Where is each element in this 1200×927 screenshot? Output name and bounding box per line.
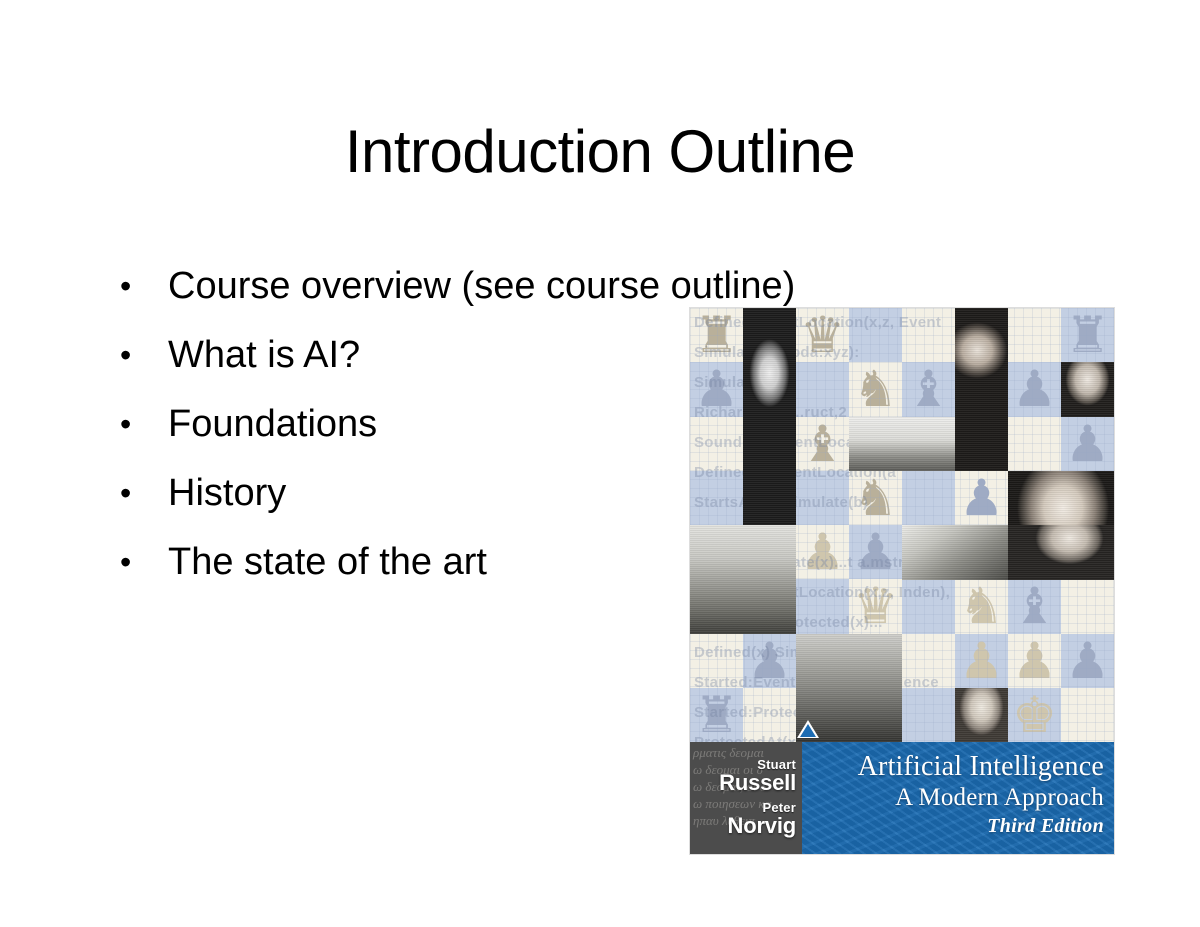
- photo-grain: [1061, 362, 1114, 417]
- knight-piece-icon: ♞: [853, 364, 898, 414]
- photo-grain: [955, 688, 1008, 742]
- board-square: ♝: [902, 362, 955, 416]
- photo-grain: [849, 417, 955, 471]
- bishop-piece-icon: ♝: [906, 364, 951, 414]
- photo-grain: [1008, 525, 1114, 580]
- board-square: [796, 362, 849, 416]
- bullet-glyph: •: [120, 459, 140, 528]
- board-square: ♝: [1008, 579, 1061, 633]
- board-square: [690, 634, 743, 688]
- pawn-piece-icon: ♟: [1065, 419, 1110, 469]
- pawn-piece-icon: ♟: [853, 527, 898, 577]
- photo-grain: [955, 308, 1008, 471]
- pawn-piece-icon: ♟: [959, 473, 1004, 523]
- knight-piece-icon: ♞: [853, 473, 898, 523]
- board-square: ♟: [1008, 634, 1061, 688]
- book-cover-image: ♜♛♜♟♞♝♟♝♟♟♞♟♟♟♛♞♝♟♟♟♟♜♚ Defined:EventLoc…: [690, 308, 1114, 854]
- list-item-label: What is AI?: [168, 334, 360, 376]
- board-square: ♜: [690, 688, 743, 742]
- slide-canvas: Introduction Outline • Course overview (…: [0, 0, 1200, 927]
- board-square: ♟: [849, 525, 902, 579]
- mars-rover: [690, 525, 796, 634]
- list-item-label: The state of the art: [168, 541, 487, 583]
- board-square: [902, 471, 955, 525]
- queen-piece-icon: ♛: [853, 581, 898, 631]
- board-square: ♞: [955, 579, 1008, 633]
- bishop-piece-icon: ♝: [1012, 581, 1057, 631]
- list-item-label: History: [168, 472, 286, 514]
- list-item-label: Course overview (see course outline): [168, 265, 795, 307]
- board-square: ♟: [955, 634, 1008, 688]
- photo-archive-desk: [902, 525, 1008, 580]
- board-square: ♝: [796, 417, 849, 471]
- pawn-piece-icon: ♟: [1012, 636, 1057, 686]
- board-square: [1061, 688, 1114, 742]
- photo-grain: [902, 525, 1008, 580]
- board-square: ♟: [955, 471, 1008, 525]
- board-square: ♞: [849, 471, 902, 525]
- bullet-glyph: •: [120, 528, 140, 597]
- pawn-piece-icon: ♟: [1065, 636, 1110, 686]
- board-square: ♟: [796, 525, 849, 579]
- board-square: ♜: [1061, 308, 1114, 362]
- board-square: ♛: [796, 308, 849, 362]
- board-square: [690, 471, 743, 525]
- board-square: [1008, 417, 1061, 471]
- rook-piece-icon: ♜: [694, 310, 739, 360]
- asimo-humanoid-robot: [743, 308, 796, 525]
- page-title: Introduction Outline: [0, 120, 1200, 183]
- queen-piece-icon: ♛: [800, 310, 845, 360]
- photo-grain: [690, 525, 796, 634]
- book-title-band: Artificial Intelligence A Modern Approac…: [802, 742, 1114, 854]
- board-square: [902, 579, 955, 633]
- board-square: [902, 634, 955, 688]
- author-last-name: Norvig: [719, 815, 796, 837]
- pawn-piece-icon: ♟: [800, 527, 845, 577]
- aristotle-bust: [955, 688, 1008, 742]
- board-square: [690, 417, 743, 471]
- board-square: [743, 688, 796, 742]
- bullet-glyph: •: [120, 321, 140, 390]
- board-square: ♟: [743, 634, 796, 688]
- harbor-lighthouse: [849, 417, 955, 471]
- knight-piece-icon: ♞: [959, 581, 1004, 631]
- author-last-name: Russell: [719, 772, 796, 794]
- board-square: [902, 308, 955, 362]
- board-square: ♟: [1061, 634, 1114, 688]
- book-title-line1: Artificial Intelligence: [858, 751, 1104, 783]
- bishop-piece-icon: ♝: [800, 419, 845, 469]
- board-square: [796, 471, 849, 525]
- man-in-suit: [1008, 525, 1114, 580]
- board-square: ♚: [1008, 688, 1061, 742]
- board-square: [1061, 579, 1114, 633]
- book-title-text: Artificial Intelligence A Modern Approac…: [858, 751, 1104, 839]
- board-square: ♟: [690, 362, 743, 416]
- board-square: ♜: [690, 308, 743, 362]
- board-square: [902, 688, 955, 742]
- rook-piece-icon: ♜: [694, 690, 739, 740]
- pawn-piece-icon: ♟: [959, 636, 1004, 686]
- king-piece-icon: ♚: [1012, 690, 1057, 740]
- pawn-piece-icon: ♟: [694, 364, 739, 414]
- list-item-label: Foundations: [168, 403, 377, 445]
- rook-piece-icon: ♜: [1065, 310, 1110, 360]
- board-square: [796, 579, 849, 633]
- book-edition-label: Third Edition: [858, 813, 1104, 839]
- board-square: ♟: [1061, 417, 1114, 471]
- photo-grain: [743, 308, 796, 525]
- author-panel: ρματις δεομαιω δεομαι οι δω δεομαι, οι δ…: [690, 742, 802, 854]
- cover-lower-section: ρματις δεομαιω δεομαι οι δω δεομαι, οι δ…: [690, 742, 1114, 854]
- pawn-piece-icon: ♟: [747, 636, 792, 686]
- triangle-marker-icon: [797, 720, 819, 738]
- bullet-glyph: •: [120, 252, 140, 321]
- historical-portrait: [1061, 362, 1114, 417]
- chess-player-kasparov: [955, 308, 1008, 471]
- pawn-piece-icon: ♟: [1012, 364, 1057, 414]
- bullet-glyph: •: [120, 390, 140, 459]
- board-square: ♟: [1008, 362, 1061, 416]
- board-square: [849, 308, 902, 362]
- board-square: [1008, 308, 1061, 362]
- board-square: ♞: [849, 362, 902, 416]
- author-names: Stuart Russell Peter Norvig: [719, 758, 796, 844]
- board-square: ♛: [849, 579, 902, 633]
- book-title-line2: A Modern Approach: [858, 783, 1104, 813]
